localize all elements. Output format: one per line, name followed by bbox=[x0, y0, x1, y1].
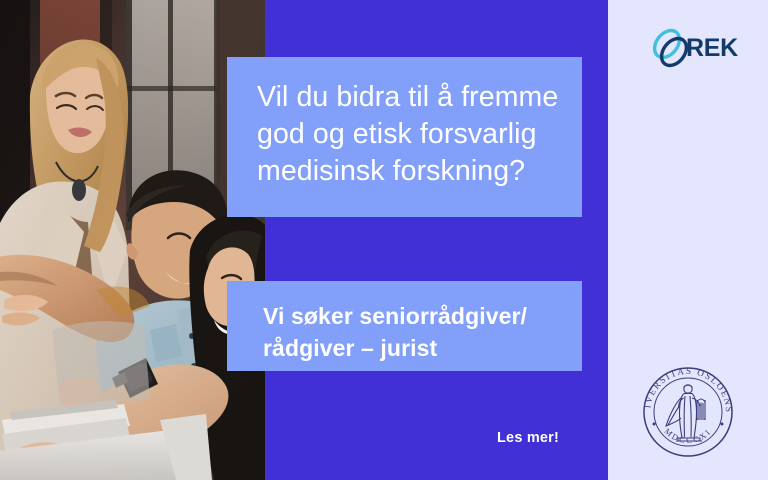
rek-logo[interactable]: REK bbox=[648, 27, 740, 69]
job-title-line-2: rådgiver – jurist bbox=[263, 332, 558, 364]
headline-line-2: god og etisk forsvarlig bbox=[257, 116, 556, 153]
read-more-link[interactable]: Les mer! bbox=[497, 430, 559, 446]
uio-seal: UNIVERSITAS OSLOENSIS MDCCCXI bbox=[638, 362, 738, 462]
job-title-line-1: Vi søker seniorrådgiver/ bbox=[263, 300, 558, 332]
rek-wordmark: REK bbox=[686, 34, 738, 63]
seal-year-text: MDCCCXI bbox=[663, 427, 714, 445]
job-title-panel: Vi søker seniorrådgiver/ rådgiver – juri… bbox=[227, 281, 582, 371]
headline-line-1: Vil du bidra til å fremme bbox=[257, 79, 556, 116]
office-team-photo bbox=[0, 0, 265, 480]
headline-panel: Vil du bidra til å fremme god og etisk f… bbox=[227, 57, 582, 217]
headline-line-3: medisinsk forskning? bbox=[257, 153, 556, 190]
seal-outer-text: UNIVERSITAS OSLOENSIS bbox=[638, 362, 734, 414]
photo-illustration bbox=[0, 0, 265, 480]
recruitment-banner: Vil du bidra til å fremme god og etisk f… bbox=[0, 0, 768, 480]
